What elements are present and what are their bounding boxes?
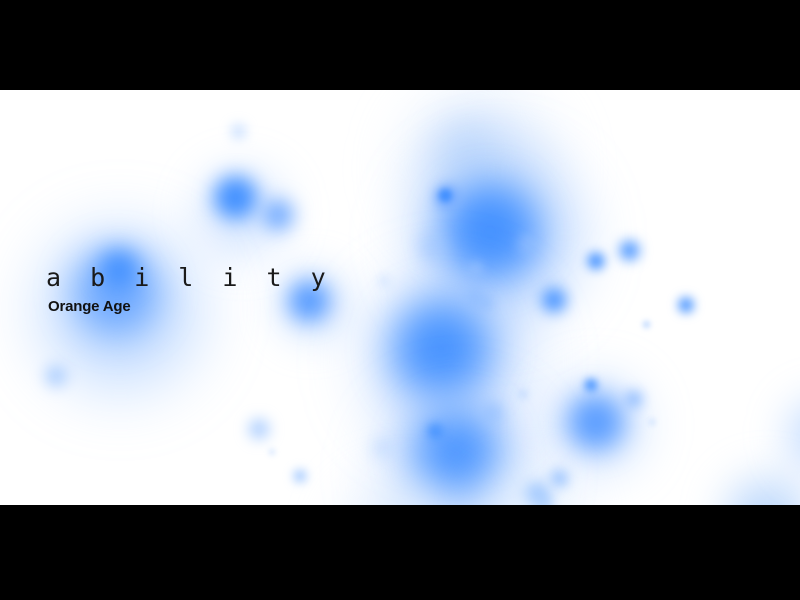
ring-top-faint (424, 108, 510, 194)
ring-center-left (430, 180, 464, 214)
dot-left-small (42, 362, 70, 390)
dot-center-ring-core (437, 187, 454, 204)
blob-lower-main-halo (368, 382, 550, 505)
dot-center-tiny (468, 260, 484, 276)
dot-upper-mid-right (258, 195, 298, 235)
letterbox-bar-bottom (0, 505, 800, 600)
dot-right-mid-top (583, 377, 599, 393)
blob-mid-left-halo (268, 260, 356, 348)
dot-main-tiny-l (378, 275, 390, 287)
dot-main-edge-r1 (464, 286, 486, 308)
blob-right-mid-core (560, 386, 632, 458)
blob-main-core (378, 286, 504, 412)
letterbox-bar-top (0, 0, 800, 90)
dot-lower-main-r (480, 400, 506, 426)
blob-center-top-core (430, 172, 550, 292)
dot-center-small-r (516, 233, 538, 255)
dot-mid-left-core (283, 275, 335, 327)
dot-right-mid-r (623, 388, 645, 410)
blob-main-halo (348, 260, 548, 460)
blob-bottom-faint-a (330, 470, 480, 505)
dot-tiny-upper-left (230, 123, 247, 140)
blob-left-large-halo (20, 210, 220, 410)
blob-bottom-right (714, 466, 800, 505)
dot-bl-cluster-c (533, 494, 553, 505)
dot-bl-cluster-a (522, 480, 552, 505)
blob-far-right-edge (778, 390, 800, 480)
dot-right-sharp-c (617, 238, 642, 263)
dot-right-mid-l (518, 389, 528, 399)
blob-left-core (62, 238, 170, 346)
blob-bottom-faint-b (470, 458, 590, 505)
album-artwork-canvas (0, 90, 800, 505)
dot-left-bright-core (95, 245, 143, 293)
dot-right-sharp-b (585, 250, 607, 272)
dot-right-sharp-a (538, 284, 570, 316)
dot-near-title-b (292, 468, 308, 484)
blob-right-mid-halo (536, 365, 656, 485)
dot-right-tiny-f (648, 418, 656, 426)
blob-lower-main-core (400, 398, 512, 505)
blob-upper-mid-halo (186, 158, 296, 268)
dot-center-lower-l (415, 230, 449, 264)
dot-main-edge-r2 (478, 295, 494, 311)
dot-near-title-c (268, 448, 276, 456)
dot-near-title-a (246, 416, 272, 442)
dot-right-tiny-e (642, 320, 651, 329)
blob-center-top-halo (398, 138, 598, 338)
media-artwork-frame: a b i l i t y Orange Age (0, 0, 800, 600)
dot-lower-main-bl (370, 435, 396, 461)
dot-lower-main-tiny (426, 422, 444, 440)
dot-bl-cluster-b (548, 468, 570, 490)
dot-upper-mid-core (208, 170, 263, 225)
dot-right-sharp-d (676, 295, 696, 315)
blob-top-faint-halo (390, 90, 570, 258)
